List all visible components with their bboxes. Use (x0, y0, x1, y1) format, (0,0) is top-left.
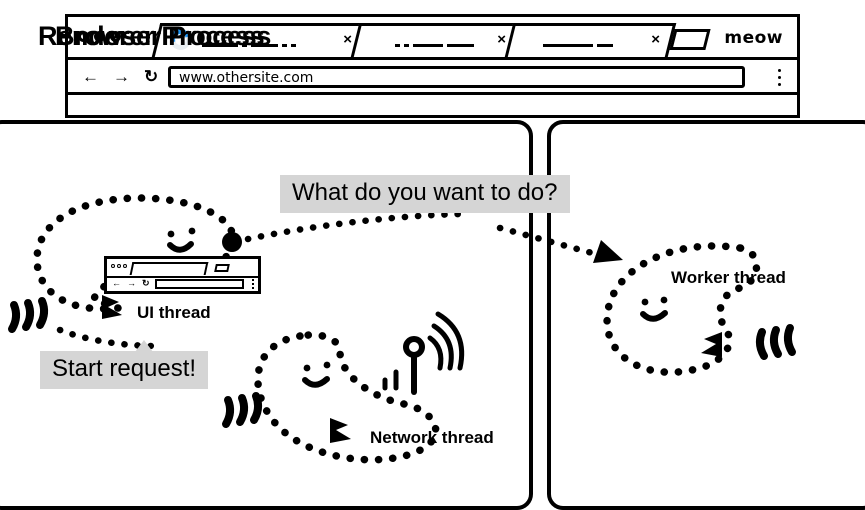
arrow-dots-right (500, 228, 604, 256)
mini-kebab-menu-icon (252, 279, 254, 291)
start-request-callout: Start request! (40, 351, 208, 389)
worker-thread-hand (701, 332, 722, 357)
question-callout: What do you want to do? (280, 175, 570, 213)
mini-url-bar (155, 279, 244, 289)
worker-thread-motion-lines (760, 328, 792, 356)
worker-thread-smile (643, 313, 665, 319)
ui-thread-browser-icon: ← → ↻ (104, 256, 261, 294)
mini-window-controls (111, 264, 127, 268)
mini-toolbar: ← → ↻ (107, 276, 258, 291)
mini-tab (130, 262, 209, 275)
worker-thread-label: Worker thread (671, 268, 786, 288)
ui-thread-label: UI thread (137, 303, 211, 323)
network-thread-eye (304, 365, 311, 372)
network-thread-eye (324, 362, 331, 369)
mini-back-icon: ← (112, 279, 121, 288)
callout-tail (135, 340, 153, 352)
worker-thread-eye (642, 299, 649, 306)
worker-thread-eye (661, 297, 668, 304)
mini-reload-icon: ↻ (142, 279, 150, 288)
network-thread-label: Network thread (370, 428, 494, 448)
question-arrow (222, 214, 623, 263)
ui-thread-motion-lines (12, 301, 44, 329)
start-request-text: Start request! (52, 355, 196, 382)
ui-thread-eye (168, 231, 175, 238)
renderer-process-title: Renderer Process (38, 21, 264, 52)
arrow-origin-dot (222, 232, 242, 252)
mini-forward-icon: → (127, 279, 136, 288)
ui-thread-eye (189, 228, 196, 235)
arrow-head (593, 240, 623, 263)
mini-new-tab-button (214, 264, 230, 272)
wifi-antenna-icon (385, 314, 462, 392)
ui-thread-smile (170, 244, 191, 250)
diagram-canvas: × × × meow ← → ↻ www.o (0, 0, 865, 504)
network-thread-hand (330, 418, 351, 443)
network-thread-smile (305, 379, 327, 385)
arrow-dots-left (248, 214, 470, 239)
network-thread-motion-lines (226, 396, 258, 424)
worker-thread-character (607, 246, 792, 372)
